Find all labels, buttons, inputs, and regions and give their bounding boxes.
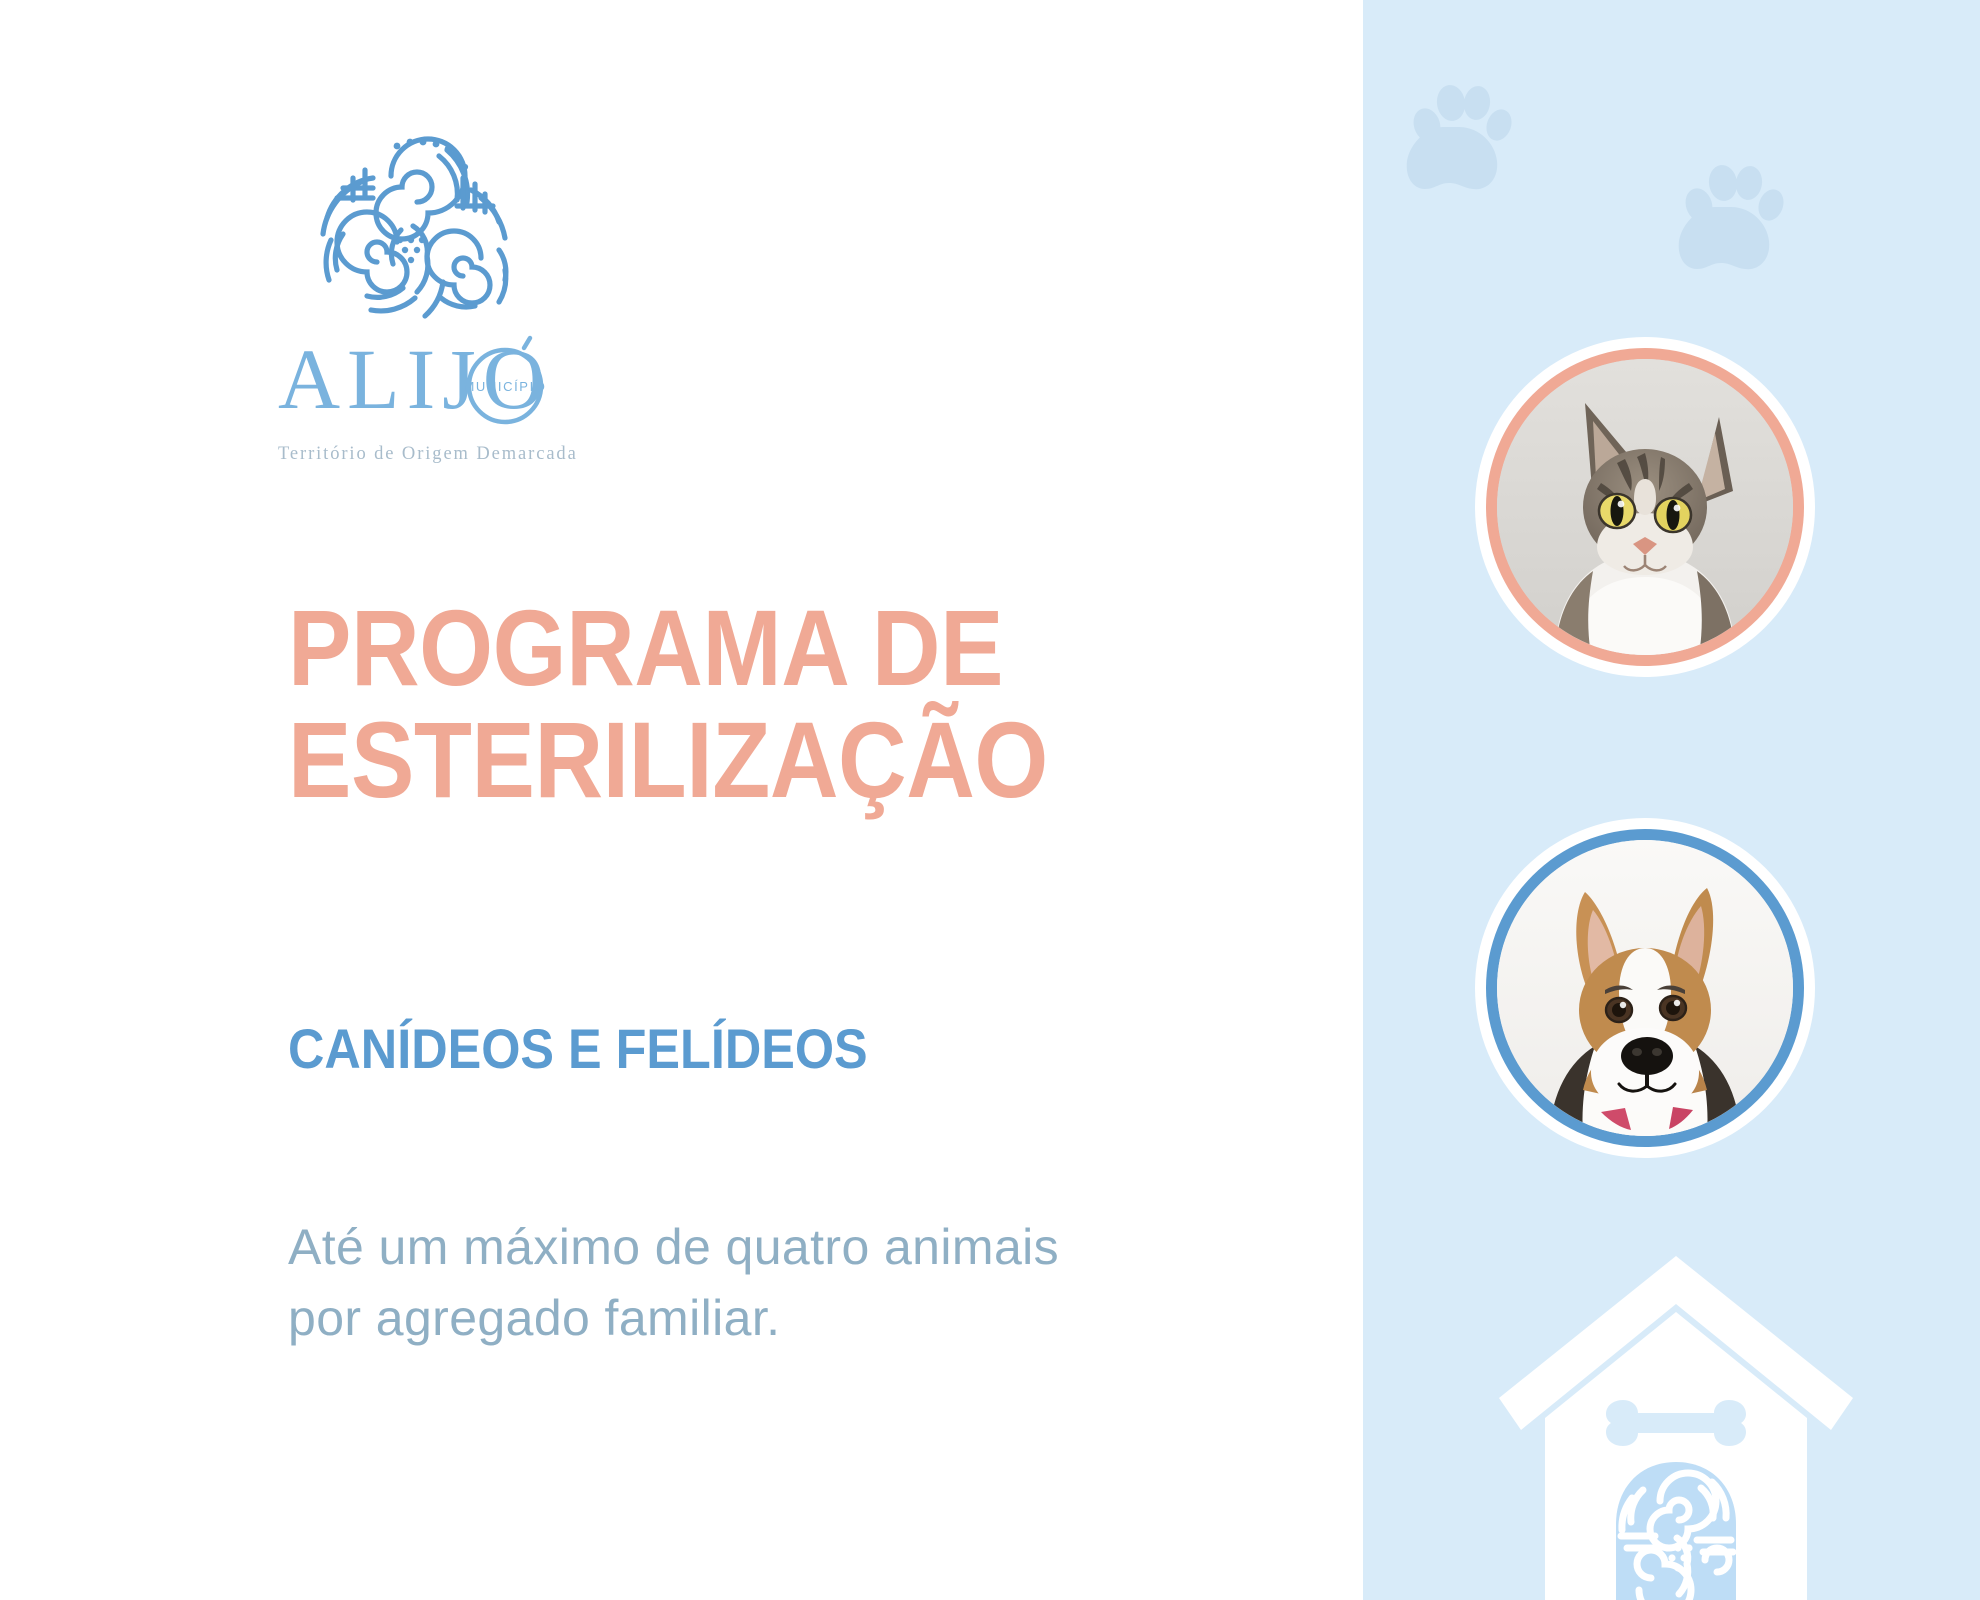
- poster-canvas: ALIJO MUNICÍPIO Território de Origem Dem…: [0, 0, 1980, 1600]
- logo-tagline-text: Território de Origem Demarcada: [278, 444, 578, 464]
- logo-tagline: Território de Origem Demarcada: [278, 438, 578, 468]
- dog-photo-medallion: [1475, 818, 1815, 1158]
- page-title: PROGRAMA DE ESTERILIZAÇÃO: [288, 592, 1115, 817]
- left-content-panel: ALIJO MUNICÍPIO Território de Origem Dem…: [0, 0, 1363, 1600]
- body-text: Até um máximo de quatro animais por agre…: [288, 1212, 1078, 1354]
- paw-print-icon: [1673, 155, 1793, 280]
- municipio-badge-text: MUNICÍPIO: [463, 379, 546, 394]
- doghouse-door-fingerprint: [1616, 1462, 1736, 1600]
- doghouse-icon: [1491, 1248, 1861, 1600]
- dog-medallion-ring: [1486, 829, 1804, 1147]
- alijo-fingerprint-spiral-mark: [313, 130, 513, 330]
- sidebar-decorative-panel: [1363, 0, 1980, 1600]
- paw-print-icon: [1401, 75, 1521, 200]
- dog-photo: [1497, 840, 1793, 1136]
- cat-photo: [1497, 359, 1793, 655]
- page-subtitle: CANÍDEOS E FELÍDEOS: [288, 1018, 1188, 1080]
- cat-photo-medallion: [1475, 337, 1815, 677]
- cat-medallion-ring: [1486, 348, 1804, 666]
- alijo-wordmark: ALIJO MUNICÍPIO: [278, 334, 568, 434]
- alijo-logo: ALIJO MUNICÍPIO Território de Origem Dem…: [280, 130, 580, 468]
